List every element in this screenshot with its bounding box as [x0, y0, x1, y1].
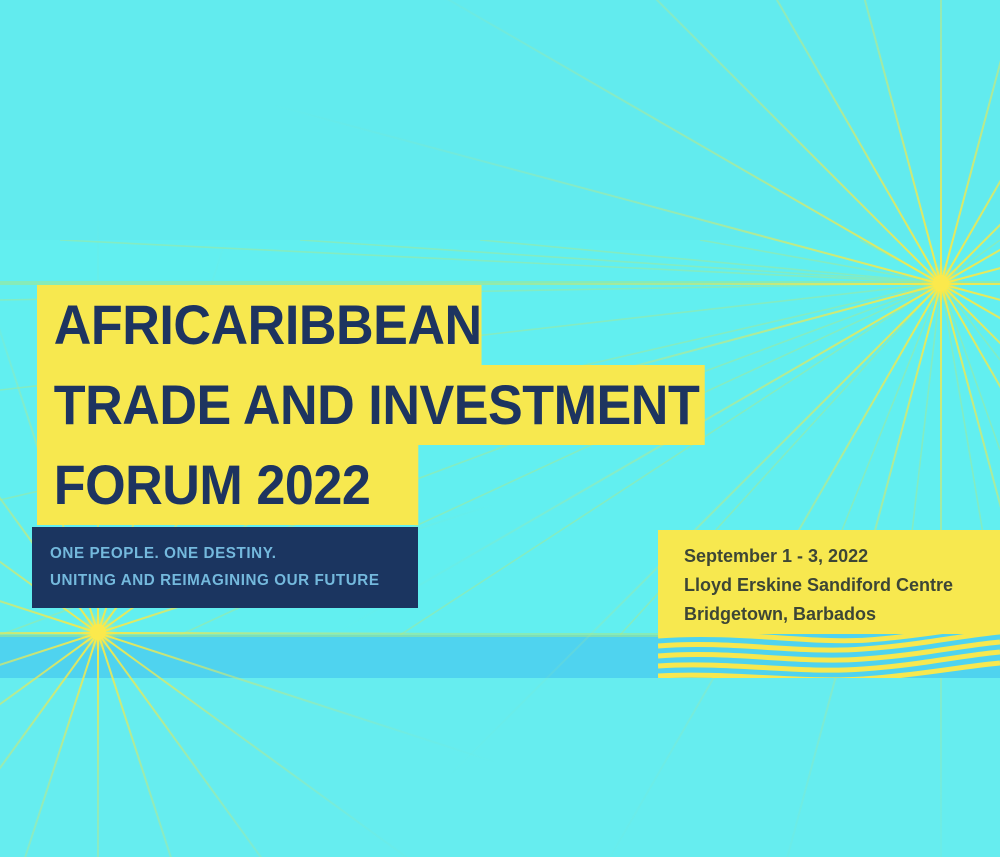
event-dates: September 1 - 3, 2022: [684, 542, 1000, 571]
background-band-top: [0, 0, 1000, 240]
event-banner: AFRICARIBBEAN TRADE AND INVESTMENT FORUM…: [0, 0, 1000, 857]
event-title: AFRICARIBBEAN TRADE AND INVESTMENT FORUM…: [37, 285, 755, 525]
event-venue: Lloyd Erskine Sandiford Centre: [684, 571, 1000, 600]
event-details-panel: September 1 - 3, 2022 Lloyd Erskine Sand…: [658, 530, 1000, 678]
event-tagline: ONE PEOPLE. ONE DESTINY. UNITING AND REI…: [32, 527, 418, 608]
event-details-text: September 1 - 3, 2022 Lloyd Erskine Sand…: [684, 542, 1000, 629]
title-line-1: AFRICARIBBEAN: [37, 285, 482, 365]
title-line-3: FORUM 2022: [37, 445, 418, 525]
tagline-line-1: ONE PEOPLE. ONE DESTINY.: [50, 540, 400, 567]
event-city: Bridgetown, Barbados: [684, 600, 1000, 629]
tagline-line-2: UNITING AND REIMAGINING OUR FUTURE: [50, 567, 400, 594]
wave-lines-icon: [658, 634, 1000, 678]
background-band-bottom: [0, 678, 1000, 857]
title-line-2: TRADE AND INVESTMENT: [37, 365, 705, 445]
